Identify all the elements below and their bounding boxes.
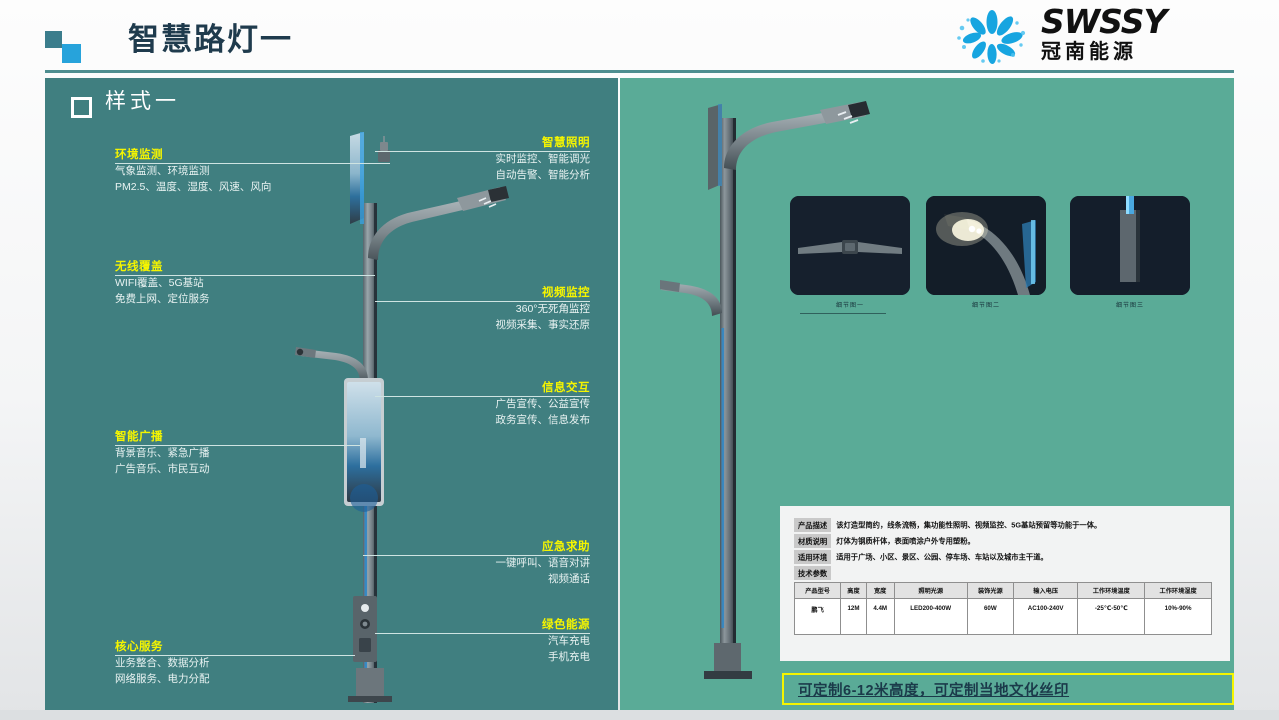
caption-underline: [800, 313, 886, 314]
th-input-voltage: 输入电压: [1013, 583, 1078, 599]
tech-parameters-table: 产品型号 高度 宽度 照明光源 装饰光源 输入电压 工作环境温度 工作环境湿度 …: [794, 582, 1212, 635]
thumb-caption: 细节图二: [926, 300, 1046, 309]
spec-tag: 产品描述: [794, 518, 831, 532]
th-model: 产品型号: [795, 583, 841, 599]
td-work-humidity: 10%-90%: [1145, 599, 1212, 635]
header-divider: [45, 70, 1234, 73]
annotation-line2: 网络服务、电力分配: [115, 671, 345, 687]
annotation-title: 智慧照明: [345, 136, 590, 151]
annotation-title: 视频监控: [345, 286, 590, 301]
annotation-title: 核心服务: [115, 640, 345, 655]
right-panel: 细节图一 细节图二 细节图三 产品描述该灯造型简约，线条流畅，集功能性照明、视频…: [620, 78, 1234, 710]
annotation-title: 应急求助: [345, 540, 590, 555]
company-logo: SWSSY 冠南能源: [953, 4, 1253, 68]
leader-line: [363, 555, 590, 556]
leader-line: [445, 151, 590, 152]
annotation-line1: 一键呼叫、语音对讲: [345, 555, 590, 571]
spec-row-environment: 适用环境适用于广场、小区、景区、公园、停车场、车站以及城市主干道。: [794, 550, 1048, 564]
pole-body-detail-photo[interactable]: [1070, 196, 1190, 295]
th-height: 高度: [841, 583, 867, 599]
thumb-caption: 细节图一: [790, 300, 910, 309]
thumb-caption: 细节图三: [1070, 300, 1190, 309]
annotation-line1: 汽车充电: [345, 633, 590, 649]
annotation-line2: 免费上网、定位服务: [115, 291, 345, 307]
footer-strip: [0, 710, 1279, 720]
annotation-title: 绿色能源: [345, 618, 590, 633]
leader-line: [305, 445, 360, 446]
left-panel: 样式一: [45, 78, 618, 710]
annotation-video-surveillance: 视频监控 360°无死角监控 视频采集、事实还原: [345, 286, 590, 333]
leader-line: [375, 633, 590, 634]
annotation-title: 环境监测: [115, 148, 345, 163]
th-decor-light: 装饰光源: [967, 583, 1013, 599]
annotation-title: 信息交互: [345, 381, 590, 396]
annotation-title: 无线覆盖: [115, 260, 345, 275]
logo-text-block: SWSSY 冠南能源: [1041, 4, 1251, 68]
leader-line: [295, 275, 375, 276]
lamp-arm-detail-photo[interactable]: [790, 196, 910, 295]
spec-row-tech-params: 技术参数: [794, 566, 836, 580]
annotation-line1: 背景音乐、紧急广播: [115, 445, 345, 461]
spec-tag: 材质说明: [794, 534, 831, 548]
th-work-humidity: 工作环境湿度: [1145, 583, 1212, 599]
water-droplet-flower-logo-icon: [953, 8, 1031, 64]
spec-tag: 技术参数: [794, 566, 831, 580]
annotation-title: 智能广播: [115, 430, 345, 445]
annotation-emergency-help: 应急求助 一键呼叫、语音对讲 视频通话: [345, 540, 590, 587]
annotation-smart-broadcast: 智能广播 背景音乐、紧急广播 广告音乐、市民互动: [115, 430, 345, 477]
th-work-temp: 工作环境温度: [1078, 583, 1145, 599]
annotation-line2: 视频通话: [345, 571, 590, 587]
style-marker-icon: [71, 97, 92, 118]
annotation-line1: 实时监控、智能调光: [345, 151, 590, 167]
product-spec-card: 产品描述该灯造型简约，线条流畅，集功能性照明、视频监控、5G基站预留等功能于一体…: [780, 506, 1230, 661]
td-input-voltage: AC100-240V: [1013, 599, 1078, 635]
th-width: 宽度: [866, 583, 894, 599]
annotation-line2: 自动告警、智能分析: [345, 167, 590, 183]
annotation-line1: 业务整合、数据分析: [115, 655, 345, 671]
slide-canvas: 智慧路灯一: [0, 0, 1279, 720]
td-height: 12M: [841, 599, 867, 635]
annotation-core-service: 核心服务 业务整合、数据分析 网络服务、电力分配: [115, 640, 345, 687]
annotation-line2: PM2.5、温度、湿度、风速、风向: [115, 179, 345, 195]
annotation-line2: 视频采集、事实还原: [345, 317, 590, 333]
annotation-information-interaction: 信息交互 广告宣传、公益宣传 政务宣传、信息发布: [345, 381, 590, 428]
header-square-blue-icon: [62, 44, 81, 63]
logo-brand-chinese: 冠南能源: [1041, 40, 1251, 64]
annotation-line1: 360°无死角监控: [345, 301, 590, 317]
leader-line: [375, 301, 590, 302]
spec-text: 灯体为钢质杆体，表面喷涂户外专用塑粉。: [836, 537, 975, 546]
lamp-head-lit-photo[interactable]: [926, 196, 1046, 295]
spec-row-description: 产品描述该灯造型简约，线条流畅，集功能性照明、视频监控、5G基站预留等功能于一体…: [794, 518, 1101, 532]
annotation-line2: 广告音乐、市民互动: [115, 461, 345, 477]
table-row: 鹏飞 12M 4.4M LED200-400W 60W AC100-240V -…: [795, 599, 1212, 635]
annotation-green-energy: 绿色能源 汽车充电 手机充电: [345, 618, 590, 665]
style-label: 样式一: [105, 86, 180, 118]
annotation-wireless-coverage: 无线覆盖 WIFI覆盖、5G基站 免费上网、定位服务: [115, 260, 345, 307]
customization-banner-text: 可定制6-12米高度，可定制当地文化丝印: [798, 679, 1069, 700]
td-light-source: LED200-400W: [894, 599, 967, 635]
spec-row-material: 材质说明灯体为钢质杆体，表面喷涂户外专用塑粉。: [794, 534, 975, 548]
th-light-source: 照明光源: [894, 583, 967, 599]
detail-photo-gallery: 细节图一 细节图二 细节图三: [790, 196, 1180, 316]
page-title: 智慧路灯一: [128, 20, 293, 60]
annotation-line2: 政务宣传、信息发布: [345, 412, 590, 428]
spec-text: 适用于广场、小区、景区、公园、停车场、车站以及城市主干道。: [836, 553, 1048, 562]
spec-text: 该灯造型简约，线条流畅，集功能性照明、视频监控、5G基站预留等功能于一体。: [836, 521, 1101, 530]
annotation-line2: 手机充电: [345, 649, 590, 665]
header-square-dark-icon: [45, 31, 62, 48]
customization-banner: 可定制6-12米高度，可定制当地文化丝印: [782, 673, 1234, 705]
annotation-environment-monitor: 环境监测 气象监测、环境监测 PM2.5、温度、湿度、风速、风向: [115, 148, 345, 195]
annotation-line1: 气象监测、环境监测: [115, 163, 345, 179]
logo-brand-latin: SWSSY: [1041, 4, 1251, 40]
td-work-temp: -25℃-50℃: [1078, 599, 1145, 635]
annotation-line1: WIFI覆盖、5G基站: [115, 275, 345, 291]
annotation-line1: 广告宣传、公益宣传: [345, 396, 590, 412]
slide-header: 智慧路灯一: [0, 0, 1279, 72]
td-decor-light: 60W: [967, 599, 1013, 635]
spec-tag: 适用环境: [794, 550, 831, 564]
td-model: 鹏飞: [795, 599, 841, 635]
td-width: 4.4M: [866, 599, 894, 635]
annotation-smart-lighting: 智慧照明 实时监控、智能调光 自动告警、智能分析: [345, 136, 590, 183]
leader-line: [395, 396, 590, 397]
table-header-row: 产品型号 高度 宽度 照明光源 装饰光源 输入电压 工作环境温度 工作环境湿度: [795, 583, 1212, 599]
